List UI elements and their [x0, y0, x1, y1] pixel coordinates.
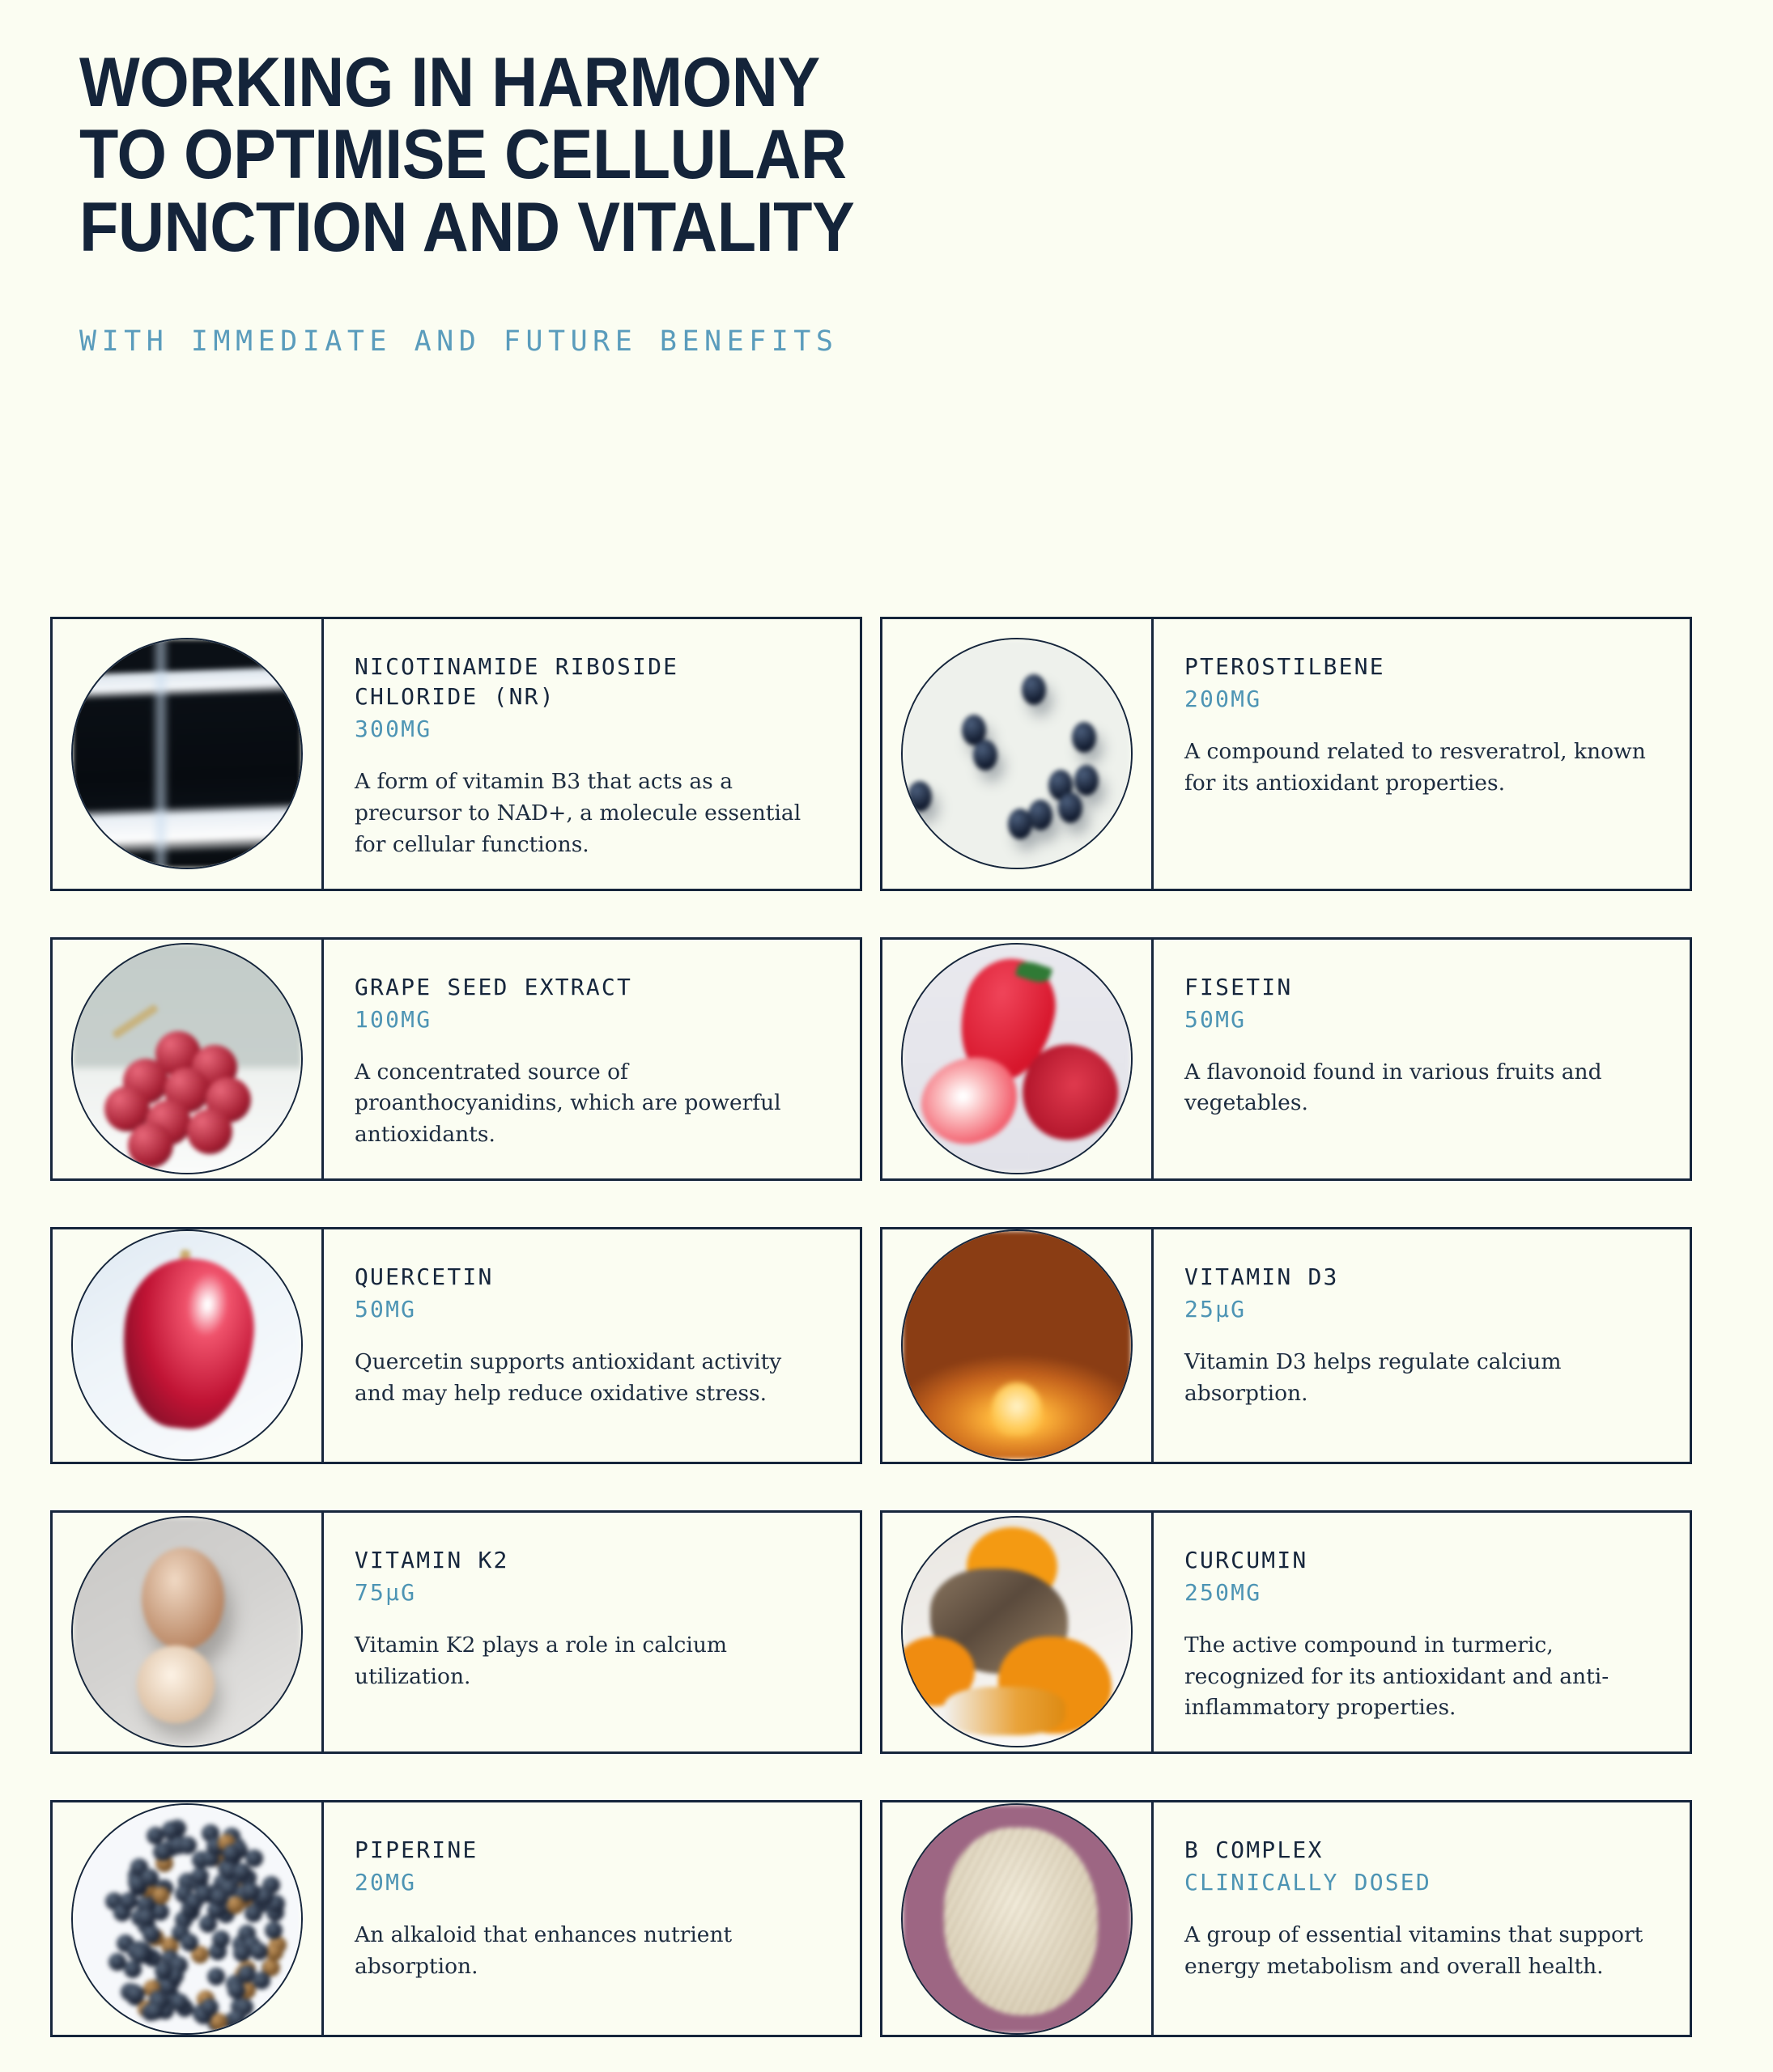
ingredient-name: CURCUMIN — [1184, 1545, 1654, 1575]
oats-image — [901, 1803, 1133, 2035]
ingredient-card[interactable]: PIPERINE 20MG An alkaloid that enhances … — [50, 1800, 862, 2037]
card-body: NICOTINAMIDE RIBOSIDE CHLORIDE (NR) 300M… — [324, 619, 860, 889]
strawberries-image — [901, 943, 1133, 1174]
ingredient-name: GRAPE SEED EXTRACT — [355, 972, 824, 1002]
ingredient-dose: 50MG — [355, 1296, 824, 1323]
ingredient-dose: 250MG — [1184, 1579, 1654, 1606]
ingredient-card[interactable]: VITAMIN K2 75µG Vitamin K2 plays a role … — [50, 1510, 862, 1754]
card-media — [53, 619, 324, 889]
page-subtitle: WITH IMMEDIATE AND FUTURE BENEFITS — [79, 325, 1618, 358]
ingredient-description: A form of vitamin B3 that acts as a prec… — [355, 766, 824, 860]
ingredient-dose: 25µG — [1184, 1296, 1654, 1323]
ingredient-card[interactable]: GRAPE SEED EXTRACT 100MG A concentrated … — [50, 937, 862, 1181]
card-body: VITAMIN K2 75µG Vitamin K2 plays a role … — [324, 1513, 860, 1751]
ingredient-description: A flavonoid found in various fruits and … — [1184, 1057, 1654, 1119]
card-body: CURCUMIN 250MG The active compound in tu… — [1154, 1513, 1690, 1751]
ingredient-name: FISETIN — [1184, 972, 1654, 1002]
ingredient-card[interactable]: FISETIN 50MG A flavonoid found in variou… — [880, 937, 1692, 1181]
ingredient-card[interactable]: QUERCETIN 50MG Quercetin supports antiox… — [50, 1227, 862, 1464]
ingredient-name: PIPERINE — [355, 1835, 824, 1865]
turmeric-image — [901, 1516, 1133, 1747]
ingredient-description: A compound related to resveratrol, known… — [1184, 737, 1654, 799]
page-header: WORKING IN HARMONY TO OPTIMISE CELLULAR … — [79, 47, 1618, 358]
blueberries-image — [901, 638, 1133, 869]
card-body: PIPERINE 20MG An alkaloid that enhances … — [324, 1802, 860, 2035]
card-media — [882, 1229, 1154, 1462]
card-body: FISETIN 50MG A flavonoid found in variou… — [1154, 940, 1690, 1178]
ingredient-dose: CLINICALLY DOSED — [1184, 1869, 1654, 1896]
grapes-image — [71, 943, 303, 1174]
card-body: QUERCETIN 50MG Quercetin supports antiox… — [324, 1229, 860, 1462]
ingredient-name: VITAMIN K2 — [355, 1545, 824, 1575]
card-body: VITAMIN D3 25µG Vitamin D3 helps regulat… — [1154, 1229, 1690, 1462]
ingredient-dose: 20MG — [355, 1869, 824, 1896]
sunset-image — [901, 1229, 1133, 1461]
ingredient-dose: 50MG — [1184, 1006, 1654, 1033]
ingredient-dose: 100MG — [355, 1006, 824, 1033]
card-media — [882, 619, 1154, 889]
nicotinamide-riboside-image — [71, 638, 303, 869]
ingredient-card[interactable]: CURCUMIN 250MG The active compound in tu… — [880, 1510, 1692, 1754]
card-body: GRAPE SEED EXTRACT 100MG A concentrated … — [324, 940, 860, 1178]
ingredient-card[interactable]: VITAMIN D3 25µG Vitamin D3 helps regulat… — [880, 1227, 1692, 1464]
ingredient-name: PTEROSTILBENE — [1184, 652, 1654, 681]
ingredient-dose: 300MG — [355, 715, 824, 742]
ingredient-name: VITAMIN D3 — [1184, 1262, 1654, 1292]
card-body: PTEROSTILBENE 200MG A compound related t… — [1154, 619, 1690, 889]
ingredient-card[interactable]: PTEROSTILBENE 200MG A compound related t… — [880, 617, 1692, 891]
eggshells-image — [71, 1516, 303, 1747]
ingredient-dose: 75µG — [355, 1579, 824, 1606]
card-media — [53, 1229, 324, 1462]
ingredient-grid: NICOTINAMIDE RIBOSIDE CHLORIDE (NR) 300M… — [50, 617, 1692, 2037]
page-title: WORKING IN HARMONY TO OPTIMISE CELLULAR … — [79, 47, 1495, 264]
ingredient-description: A group of essential vitamins that suppo… — [1184, 1920, 1654, 1982]
card-media — [882, 1513, 1154, 1751]
ingredient-name: B COMPLEX — [1184, 1835, 1654, 1865]
ingredient-dose: 200MG — [1184, 686, 1654, 712]
card-media — [882, 1802, 1154, 2035]
apple-image — [71, 1229, 303, 1461]
ingredient-description: An alkaloid that enhances nutrient absor… — [355, 1920, 824, 1982]
ingredient-name: NICOTINAMIDE RIBOSIDE CHLORIDE (NR) — [355, 652, 824, 711]
card-media — [53, 1802, 324, 2035]
card-body: B COMPLEX CLINICALLY DOSED A group of es… — [1154, 1802, 1690, 2035]
ingredient-description: Vitamin K2 plays a role in calcium utili… — [355, 1630, 824, 1692]
card-media — [882, 940, 1154, 1178]
ingredient-name: QUERCETIN — [355, 1262, 824, 1292]
ingredient-description: A concentrated source of proanthocyanidi… — [355, 1057, 824, 1151]
ingredient-description: Vitamin D3 helps regulate calcium absorp… — [1184, 1347, 1654, 1409]
ingredient-card[interactable]: B COMPLEX CLINICALLY DOSED A group of es… — [880, 1800, 1692, 2037]
ingredient-description: Quercetin supports antioxidant activity … — [355, 1347, 824, 1409]
card-media — [53, 940, 324, 1178]
ingredient-panel: WORKING IN HARMONY TO OPTIMISE CELLULAR … — [0, 0, 1773, 2072]
ingredient-description: The active compound in turmeric, recogni… — [1184, 1630, 1654, 1724]
peppercorns-image — [71, 1803, 303, 2035]
ingredient-card[interactable]: NICOTINAMIDE RIBOSIDE CHLORIDE (NR) 300M… — [50, 617, 862, 891]
card-media — [53, 1513, 324, 1751]
